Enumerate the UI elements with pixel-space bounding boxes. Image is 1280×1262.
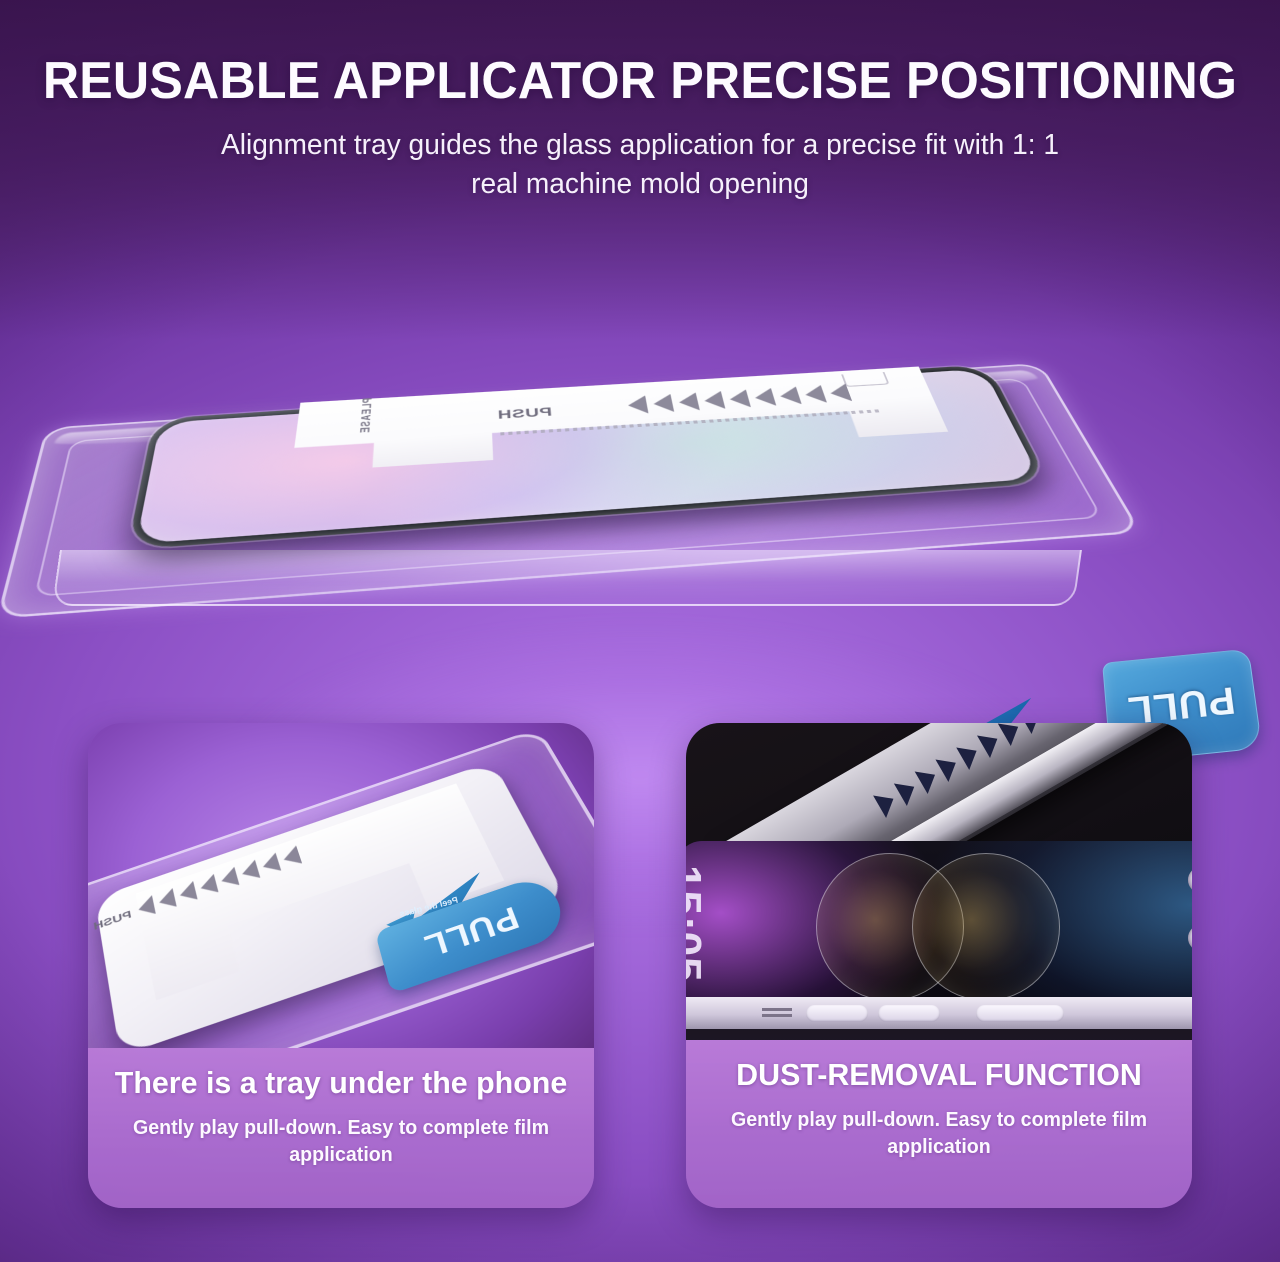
card-title: There is a tray under the phone bbox=[115, 1066, 568, 1101]
page-subtitle: Alignment tray guides the glass applicat… bbox=[184, 126, 1096, 203]
card-subtitle: Gently play pull-down. Easy to complete … bbox=[713, 1107, 1166, 1162]
card-phone-sim-tray bbox=[976, 1005, 1064, 1022]
card-phone-dust: 15:05 bbox=[686, 841, 1192, 1040]
page-subtitle-line2: real machine mold opening bbox=[184, 165, 1096, 204]
card-phone-volume-up-button bbox=[806, 1005, 868, 1022]
card-caption-dust-removal: DUST-REMOVAL FUNCTION Gently play pull-d… bbox=[686, 1040, 1192, 1208]
card-caption-tray-under-phone: There is a tray under the phone Gently p… bbox=[88, 1048, 594, 1208]
card-phone-volume-down-button bbox=[878, 1005, 940, 1022]
card-phone-speaker-grill bbox=[762, 1008, 792, 1019]
hero-product-image: PUSH PLEASE Peel the glass PULL bbox=[0, 300, 1280, 690]
page-subtitle-line1: Alignment tray guides the glass applicat… bbox=[184, 126, 1096, 165]
card-image-tray-under-phone: PUSH Peel the glass PULL bbox=[88, 723, 594, 1048]
card-phone-clock: 15:05 bbox=[686, 865, 710, 983]
card-image-dust-removal: 15:05 bbox=[686, 723, 1192, 1040]
card-title: DUST-REMOVAL FUNCTION bbox=[713, 1058, 1166, 1093]
page-title: REUSABLE APPLICATOR PRECISE POSITIONING bbox=[22, 54, 1257, 108]
dust-circle-right bbox=[912, 853, 1060, 1001]
feature-card-tray-under-phone: PUSH Peel the glass PULL There is a tray… bbox=[88, 723, 594, 1208]
feature-cards: PUSH Peel the glass PULL There is a tray… bbox=[0, 723, 1280, 1208]
card-subtitle: Gently play pull-down. Easy to complete … bbox=[115, 1115, 568, 1170]
feature-card-dust-removal: 15:05 DUST-REMOVAL FUNCTION Gently play … bbox=[686, 723, 1192, 1208]
header-section: REUSABLE APPLICATOR PRECISE POSITIONING … bbox=[0, 0, 1280, 203]
tray-front-wall bbox=[52, 550, 1082, 606]
